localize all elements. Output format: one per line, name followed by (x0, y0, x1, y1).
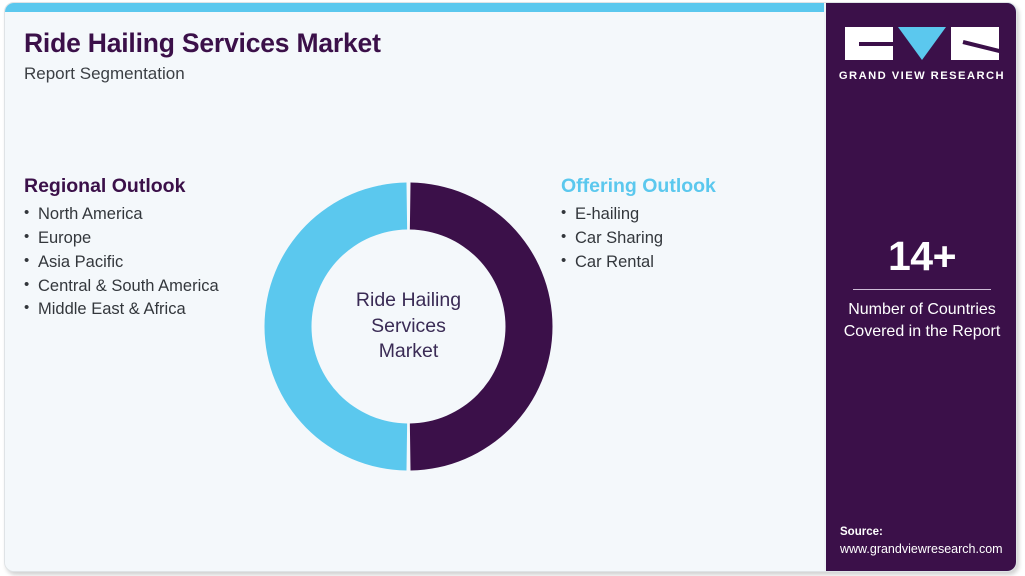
logo-letter-r-icon (951, 27, 999, 60)
list-item: Central & South America (24, 275, 274, 299)
list-item: Car Rental (561, 251, 811, 275)
list-item: E-hailing (561, 203, 811, 227)
brand-side-panel: GRAND VIEW RESEARCH 14+ Number of Countr… (824, 3, 1017, 572)
logo-letter-g-icon (845, 27, 893, 60)
logo-marks (826, 27, 1017, 61)
donut-slices (264, 183, 552, 471)
regional-outlook-section: Regional Outlook North America Europe As… (24, 174, 274, 322)
main-content-area: Ride Hailing Services Market Report Segm… (5, 12, 823, 572)
donut-chart: Ride Hailing Services Market (264, 182, 553, 471)
source-block: Source: www.grandviewresearch.com (840, 524, 1017, 558)
logo-wordmark: GRAND VIEW RESEARCH (826, 70, 1017, 82)
stat-block: 14+ Number of Countries Covered in the R… (826, 236, 1017, 342)
source-url: www.grandviewresearch.com (840, 541, 1017, 559)
brand-logo: GRAND VIEW RESEARCH (826, 27, 1017, 82)
list-item: Car Sharing (561, 227, 811, 251)
report-card: Ride Hailing Services Market Report Segm… (4, 2, 1017, 572)
regional-outlook-heading: Regional Outlook (24, 174, 274, 198)
offering-outlook-list: E-hailing Car Sharing Car Rental (561, 203, 811, 274)
list-item: Asia Pacific (24, 251, 274, 275)
donut-slice-regional (410, 183, 553, 471)
donut-chart-svg (264, 182, 553, 471)
stat-divider (853, 289, 991, 290)
list-item: Europe (24, 227, 274, 251)
page-title: Ride Hailing Services Market (24, 29, 724, 58)
stat-label-line-2: Covered in the Report (826, 321, 1017, 343)
infographic-root: Ride Hailing Services Market Report Segm… (0, 0, 1025, 576)
stat-label-line-1: Number of Countries (826, 299, 1017, 321)
logo-letter-v-icon (898, 27, 946, 60)
stat-value: 14+ (826, 236, 1017, 277)
regional-outlook-list: North America Europe Asia Pacific Centra… (24, 203, 274, 322)
list-item: North America (24, 203, 274, 227)
list-item: Middle East & Africa (24, 298, 274, 322)
offering-outlook-section: Offering Outlook E-hailing Car Sharing C… (561, 174, 811, 275)
title-block: Ride Hailing Services Market Report Segm… (24, 29, 724, 85)
source-title: Source: (840, 524, 1017, 541)
donut-slice-offering (264, 183, 407, 471)
page-subtitle: Report Segmentation (24, 64, 724, 84)
offering-outlook-heading: Offering Outlook (561, 174, 811, 198)
